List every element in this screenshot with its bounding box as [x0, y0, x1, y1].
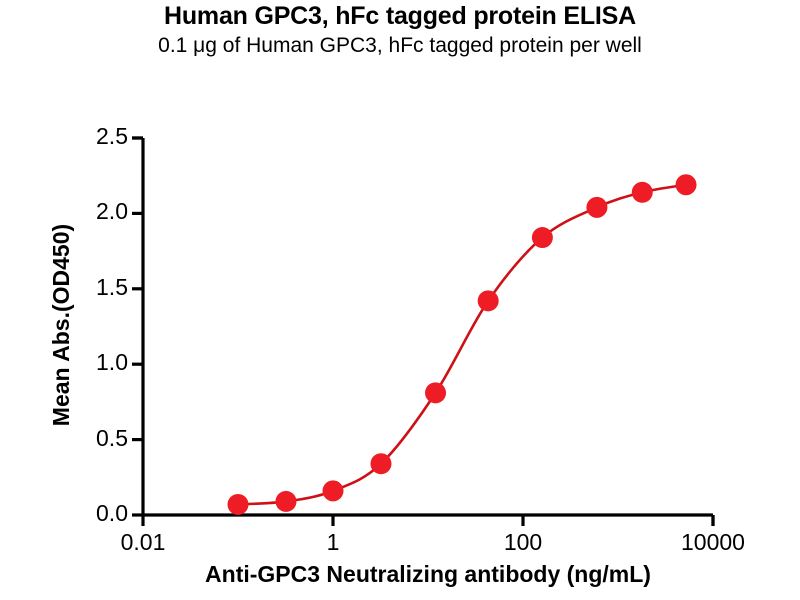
data-point [228, 494, 249, 515]
y-tick-label: 1.5 [58, 274, 128, 301]
data-series [228, 174, 697, 515]
data-point [676, 174, 697, 195]
data-point [478, 290, 499, 311]
data-point [425, 382, 446, 403]
data-point [586, 197, 607, 218]
y-tick-label: 2.0 [58, 198, 128, 225]
y-tick-label: 0.5 [58, 425, 128, 452]
series-line [238, 185, 686, 505]
data-point [323, 480, 344, 501]
data-point [632, 182, 653, 203]
data-point [532, 227, 553, 248]
x-tick-label: 0.01 [73, 529, 213, 556]
y-tick-label: 0.0 [58, 500, 128, 527]
x-tick-label: 100 [453, 529, 593, 556]
data-point [370, 453, 391, 474]
x-tick-label: 10000 [643, 529, 783, 556]
x-tick-label: 1 [263, 529, 403, 556]
chart-page: Human GPC3, hFc tagged protein ELISA 0.1… [0, 0, 800, 600]
y-tick-label: 2.5 [58, 123, 128, 150]
y-tick-label: 1.0 [58, 349, 128, 376]
data-point [275, 491, 296, 512]
